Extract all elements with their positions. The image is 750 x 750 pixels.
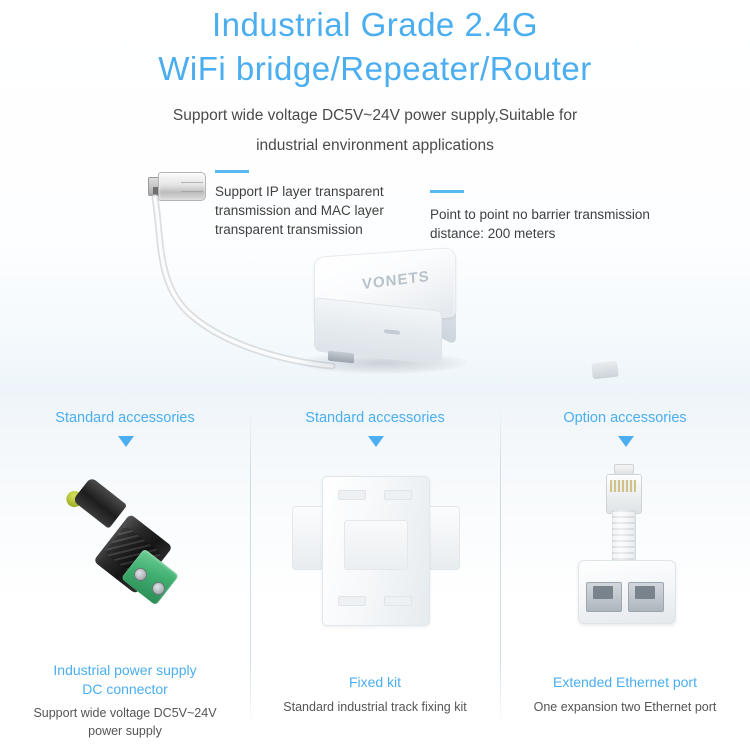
hero-section: Industrial Grade 2.4G WiFi bridge/Repeat… xyxy=(0,0,750,388)
accessory-name-1-line1: Industrial power supply xyxy=(0,661,250,680)
accessory-desc-1-line1: Support wide voltage DC5V~24V xyxy=(7,704,243,722)
accessory-desc-2-line1: Standard industrial track fixing kit xyxy=(257,698,493,716)
dc-terminal-screw-2 xyxy=(152,582,165,595)
accessory-header-1: Standard accessories xyxy=(0,410,250,426)
fixed-kit-center-panel xyxy=(344,520,408,570)
accessory-header-2: Standard accessories xyxy=(250,410,500,426)
callout-left-bar xyxy=(215,170,249,173)
ethernet-port-1-cavity xyxy=(593,586,613,599)
router-device-illustration: VONETS xyxy=(306,252,454,364)
accessory-header-3: Option accessories xyxy=(500,410,750,426)
fixed-kit-slot-3 xyxy=(338,596,366,606)
callout-left-text: Support IP layer transparent transmissio… xyxy=(215,182,427,239)
callout-right-text: Point to point no barrier transmission d… xyxy=(430,205,680,243)
product-infographic-page: Industrial Grade 2.4G WiFi bridge/Repeat… xyxy=(0,0,750,750)
fixed-kit-slot-2 xyxy=(384,490,412,500)
caret-down-icon-2 xyxy=(368,436,384,447)
accessory-name-2-line1: Fixed kit xyxy=(250,673,500,692)
fixed-kit-illustration xyxy=(292,470,458,630)
dc-connector-illustration xyxy=(72,484,190,594)
rj45-pins xyxy=(610,480,636,492)
ethernet-cable-texture xyxy=(612,510,634,564)
accessory-desc-1-line2: power supply xyxy=(7,722,243,740)
hero-subtitle-line1: Support wide voltage DC5V~24V power supp… xyxy=(0,101,750,131)
dc-terminal-screw-1 xyxy=(134,568,147,581)
page-title-line2: WiFi bridge/Repeater/Router xyxy=(0,50,750,88)
hero-subtitle-line2: industrial environment applications xyxy=(0,131,750,161)
fixed-kit-slot-1 xyxy=(338,490,366,500)
accessory-name-3-line1: Extended Ethernet port xyxy=(500,673,750,692)
antenna-piece xyxy=(591,361,619,380)
device-port xyxy=(328,351,354,364)
ethernet-splitter-illustration xyxy=(500,470,750,640)
caret-down-icon-3 xyxy=(618,436,634,447)
accessory-desc-3-line1: One expansion two Ethernet port xyxy=(507,698,743,716)
fixed-kit-slot-4 xyxy=(384,596,412,606)
ethernet-port-2-cavity xyxy=(635,586,655,599)
callout-right-bar xyxy=(430,190,464,193)
caret-down-icon-1 xyxy=(118,436,134,447)
accessory-name-1-line2: DC connector xyxy=(0,680,250,699)
page-title-line1: Industrial Grade 2.4G xyxy=(0,6,750,44)
dc-connector-barrel xyxy=(73,477,128,529)
